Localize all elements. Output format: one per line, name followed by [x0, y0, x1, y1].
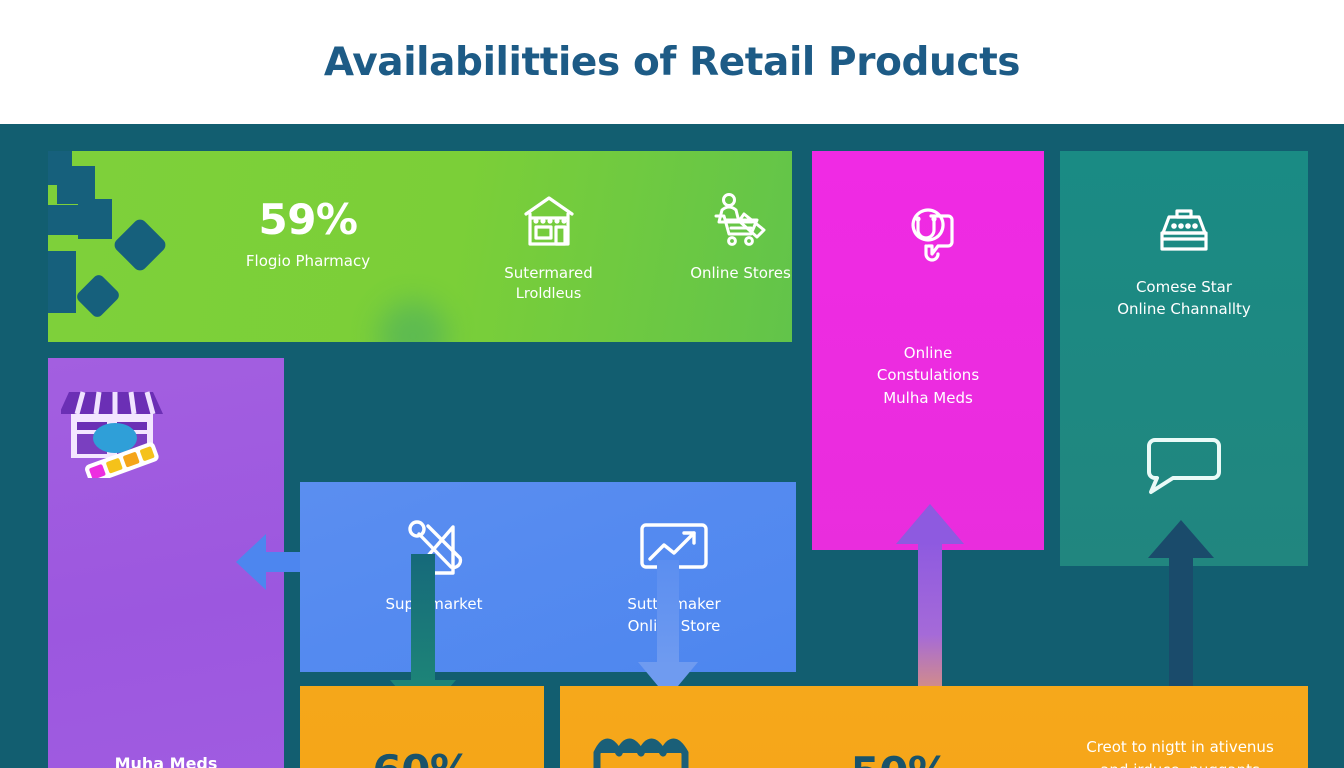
orange-wide-panel[interactable]: 50% Creot to nigtt in ativenus and.irduc…	[560, 686, 1308, 768]
green-item-label-line2: Lroldleus	[446, 285, 651, 305]
arrow-head	[896, 504, 964, 544]
green-item-online-stores[interactable]: Online Stores	[638, 189, 792, 283]
magenta-label-line3: Mulha Meds	[812, 388, 1044, 408]
magenta-label-line1: Online	[812, 343, 1044, 363]
teal-panel[interactable]: Comese Star Online Channallty	[1060, 151, 1308, 566]
decorative-squares	[48, 151, 198, 341]
orange-body-line1: Creot to nigtt in ativenus	[1060, 736, 1300, 759]
cash-register-icon	[1060, 199, 1308, 261]
magenta-label-line2: Constulations	[812, 365, 1044, 385]
orange-body-line2: and.irduce, puggants	[1060, 759, 1300, 768]
arrow-shaft	[918, 542, 942, 710]
stat-value-60: 60%	[300, 750, 544, 768]
blue-panel[interactable]: Supermarket Suttermaker Online Store	[300, 482, 796, 672]
teal-content: Comese Star Online Channallty	[1060, 199, 1308, 320]
teal-label-line2: Online Channallty	[1060, 299, 1308, 319]
green-item-label-line1: Sutermared	[446, 263, 651, 283]
teal-label-line1: Comese Star	[1060, 277, 1308, 297]
green-panel-glow	[378, 301, 448, 342]
stat-label-flogio-pharmacy: Flogio Pharmacy	[198, 251, 418, 271]
green-stat-panel[interactable]: 59% Flogio Pharmacy	[48, 151, 792, 342]
storefront-solid-icon	[582, 716, 716, 768]
purple-title: Muha Meds	[54, 754, 278, 768]
stat-value-50: 50%	[800, 752, 1000, 768]
stat-value-59: 59%	[198, 199, 418, 241]
arrow-head	[236, 534, 266, 590]
arrow-shaft	[1169, 556, 1193, 700]
green-item-supermarket[interactable]: Sutermared Lroldleus	[446, 189, 651, 305]
storefront-icon	[446, 189, 651, 253]
header-bar: Availabilitties of Retail Products	[0, 0, 1344, 124]
green-item-label-online-stores: Online Stores	[638, 263, 792, 283]
medical-consultation-icon	[812, 199, 1044, 271]
colorful-shop-icon	[60, 372, 170, 482]
orange-stat-panel[interactable]: 60% Pharmacy	[300, 686, 544, 768]
arrow-head	[1148, 520, 1214, 558]
orange-body-text: Creot to nigtt in ativenus and.irduce, p…	[1060, 736, 1300, 768]
purple-text-block: Muha Meds Whetalkessavaultute and dacous…	[54, 754, 278, 768]
shopping-cart-icon	[638, 189, 792, 253]
magenta-content: Online Constulations Mulha Meds	[812, 199, 1044, 408]
arrow-shaft	[657, 560, 679, 666]
page-title: Availabilitties of Retail Products	[324, 40, 1020, 85]
arrow-shaft	[411, 554, 435, 684]
infographic-canvas: 59% Flogio Pharmacy	[0, 124, 1344, 768]
orange-stat-block-50: 50%	[800, 752, 1000, 768]
magenta-panel[interactable]: Online Constulations Mulha Meds	[812, 151, 1044, 550]
green-stat-block: 59% Flogio Pharmacy	[198, 199, 418, 271]
arrow-orange-to-magenta	[896, 504, 964, 710]
infographic-root: Availabilitties of Retail Products 59% F…	[0, 0, 1344, 768]
arrow-blue-to-purple	[236, 534, 306, 590]
orange-stat-block: 60% Pharmacy	[300, 750, 544, 768]
speech-bubble-icon	[1060, 429, 1308, 499]
arrow-orange-to-teal	[1148, 520, 1214, 700]
